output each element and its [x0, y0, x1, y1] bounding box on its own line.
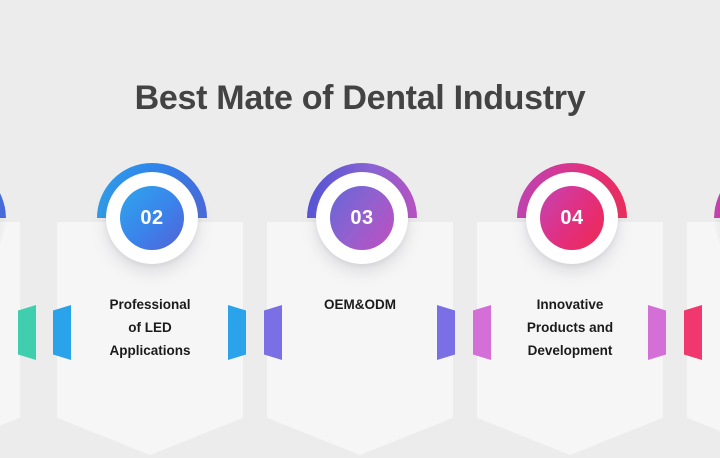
- step-label-02-line-3: Applications: [57, 339, 243, 362]
- connector-purple-a-icon: [264, 305, 282, 360]
- connector-purple-b-icon: [437, 305, 455, 360]
- step-label-03: OEM&ODM: [267, 293, 453, 316]
- connector-orchid-a-icon: [473, 305, 491, 360]
- step-card-01[interactable]: [0, 222, 20, 455]
- step-number-04: 04: [560, 208, 583, 228]
- step-badge-03[interactable]: 03: [307, 163, 417, 273]
- step-label-04-line-1: Innovative: [477, 293, 663, 316]
- step-label-04: Innovative Products and Development: [477, 293, 663, 362]
- step-number-03: 03: [350, 208, 373, 228]
- step-badge-02-core: 02: [120, 186, 184, 250]
- connector-orchid-b-icon: [648, 305, 666, 360]
- page-title: Best Mate of Dental Industry: [0, 77, 720, 119]
- step-label-04-line-2: Products and: [477, 316, 663, 339]
- step-badge-04[interactable]: 04: [517, 163, 627, 273]
- step-label-02-line-1: Professional: [57, 293, 243, 316]
- step-label-02: Professional of LED Applications: [57, 293, 243, 362]
- step-label-02-line-2: of LED: [57, 316, 243, 339]
- infographic-canvas: Best Mate of Dental Industry 02 03: [0, 0, 720, 458]
- step-badge-03-core: 03: [330, 186, 394, 250]
- step-number-02: 02: [140, 208, 163, 228]
- step-badge-04-core: 04: [540, 186, 604, 250]
- step-label-04-line-3: Development: [477, 339, 663, 362]
- step-badge-02[interactable]: 02: [97, 163, 207, 273]
- connector-rose-icon: [684, 305, 702, 360]
- connector-blue-b-icon: [228, 305, 246, 360]
- step-label-03-line-1: OEM&ODM: [267, 293, 453, 316]
- connector-blue-a-icon: [53, 305, 71, 360]
- connector-teal-icon: [18, 305, 36, 360]
